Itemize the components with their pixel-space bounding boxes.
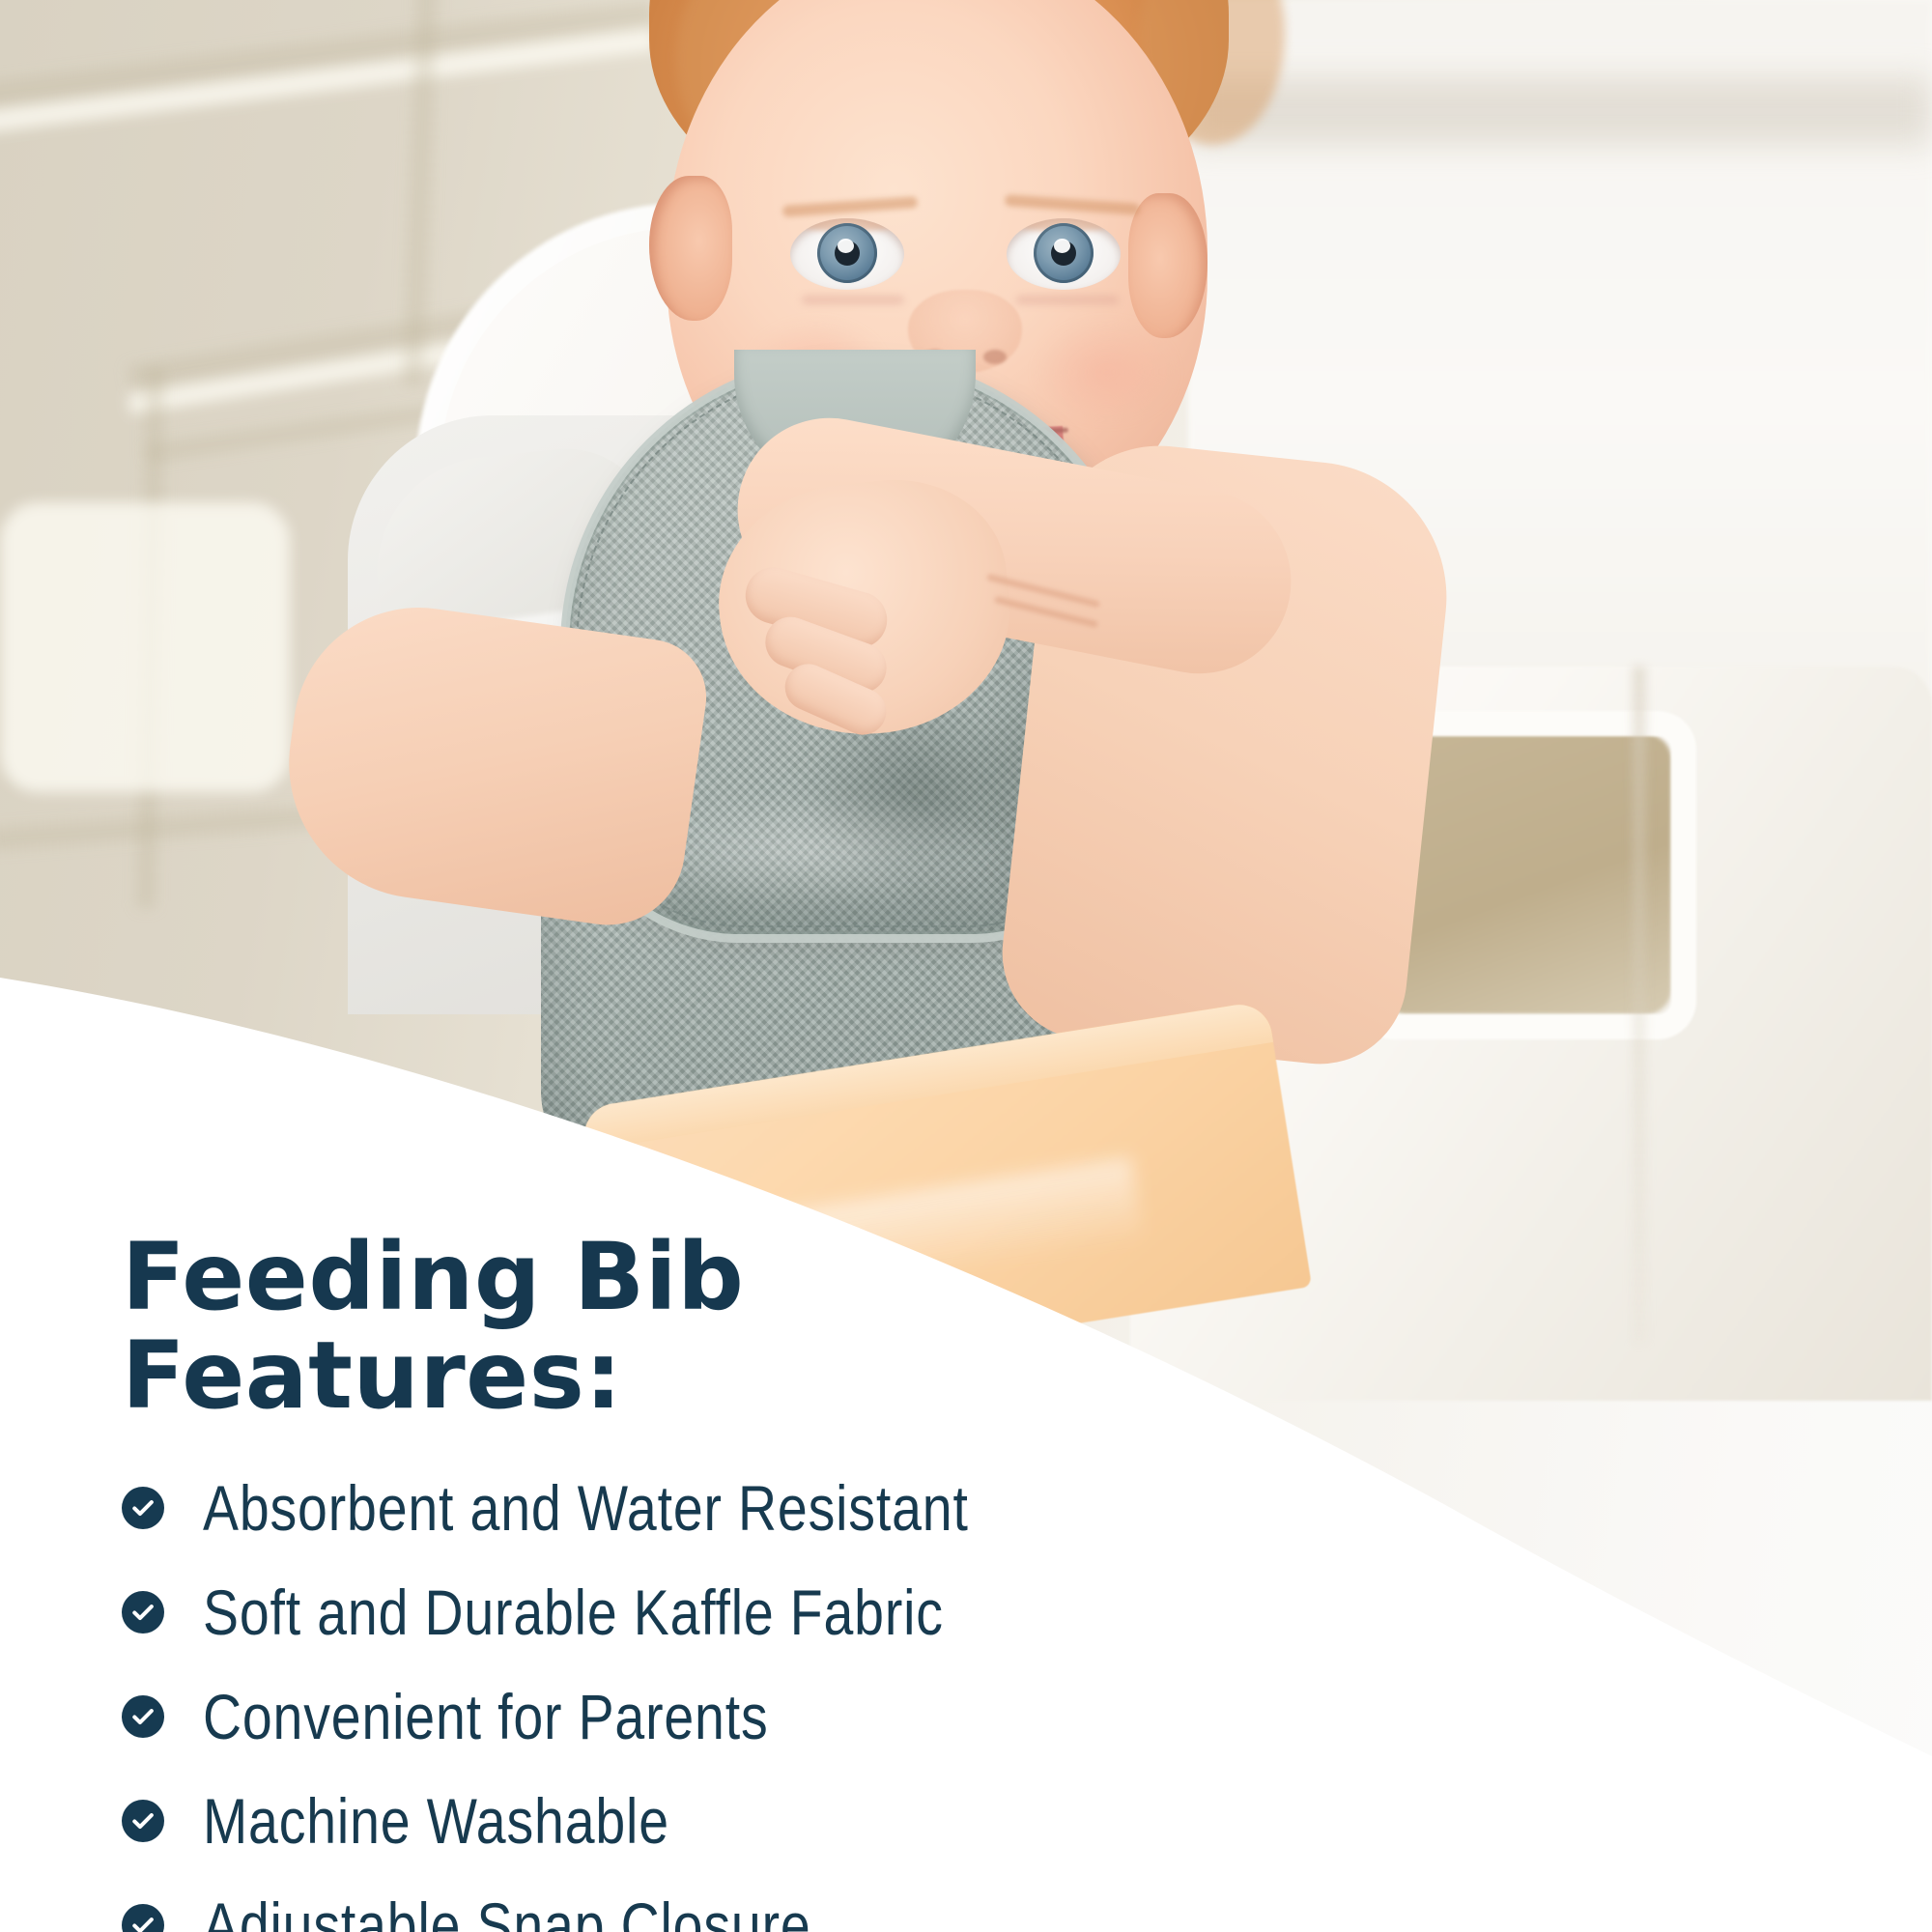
feature-list: Absorbent and Water Resistant Soft and D… [122,1466,1378,1932]
list-item: Machine Washable [122,1779,1378,1862]
check-circle-icon [122,1904,164,1932]
feature-label: Adjustable Snap Closure [203,1893,811,1932]
feature-label: Soft and Durable Kaffle Fabric [203,1580,944,1644]
page-title-line1: Feeding Bib [122,1229,991,1327]
features-content: Feeding Bib Features: Absorbent and Wate… [0,0,1932,1932]
list-item: Soft and Durable Kaffle Fabric [122,1571,1378,1654]
check-circle-icon [122,1800,164,1842]
list-item: Adjustable Snap Closure [122,1884,1378,1932]
page-title-line2: Features: [122,1327,991,1426]
list-item: Absorbent and Water Resistant [122,1466,1378,1549]
check-circle-icon [122,1695,164,1738]
check-circle-icon [122,1487,164,1529]
feature-label: Machine Washable [203,1789,669,1853]
feature-label: Absorbent and Water Resistant [203,1476,969,1540]
check-circle-icon [122,1591,164,1634]
product-infographic: Feeding Bib Features: Absorbent and Wate… [0,0,1932,1932]
feature-label: Convenient for Parents [203,1685,769,1748]
page-title: Feeding Bib Features: [122,1229,991,1426]
list-item: Convenient for Parents [122,1675,1378,1758]
